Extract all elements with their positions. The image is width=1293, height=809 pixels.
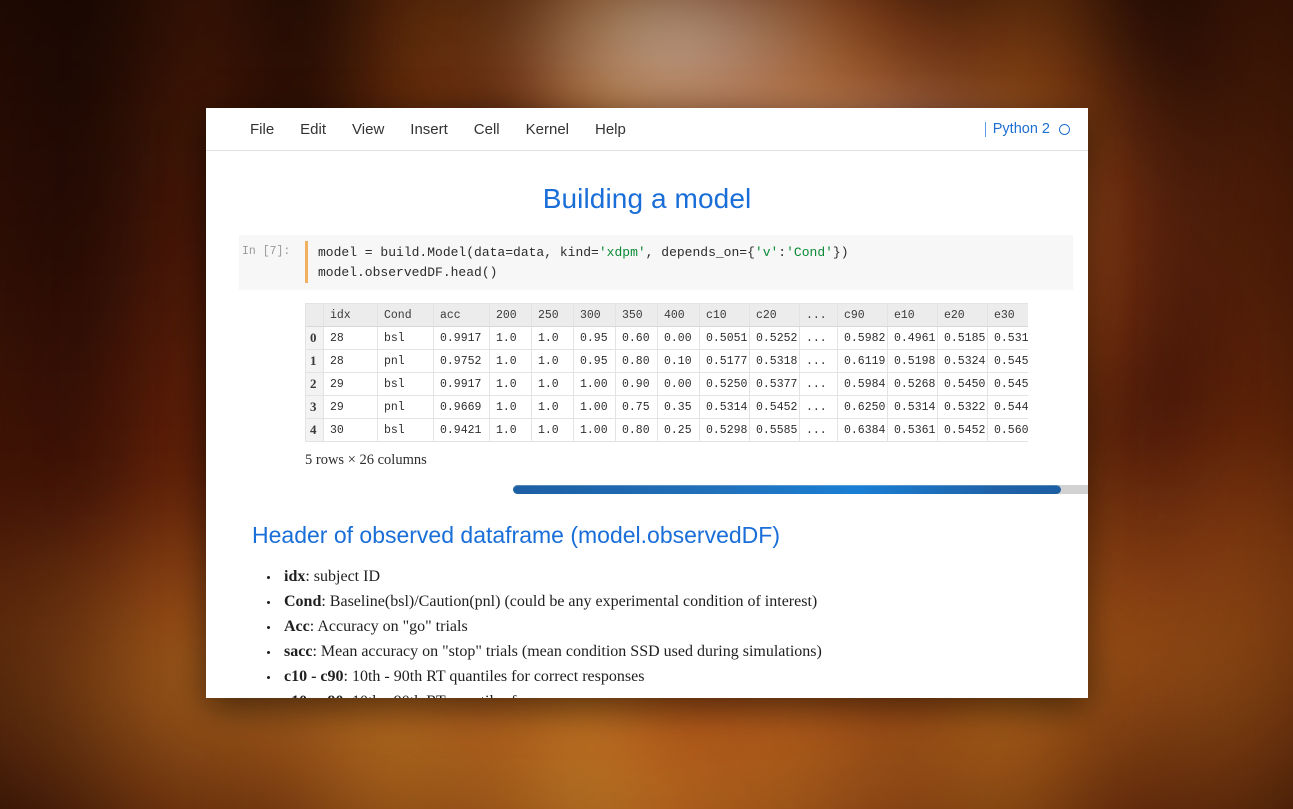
table-cell: 0.9917: [434, 327, 490, 350]
table-cell: 1.00: [574, 373, 616, 396]
list-item-term: sacc: [284, 643, 312, 660]
list-item-term: Acc: [284, 618, 310, 635]
table-column-header-250: 250: [532, 304, 574, 327]
table-row-index: 0: [306, 327, 324, 350]
table-row-index: 4: [306, 419, 324, 442]
list-item-description: : Baseline(bsl)/Caution(pnl) (could be a…: [321, 593, 817, 610]
code-cell[interactable]: In [7]: model = build.Model(data=data, k…: [239, 235, 1073, 290]
code-editor[interactable]: model = build.Model(data=data, kind='xdp…: [305, 241, 1073, 283]
table-column-header-idx: idx: [324, 304, 378, 327]
kernel-idle-circle-icon: [1059, 124, 1070, 135]
code-token-text: }): [833, 245, 849, 260]
table-cell: 0.00: [658, 373, 700, 396]
list-item-description: : Mean accuracy on "stop" trials (mean c…: [312, 643, 821, 660]
list-item-description: : Accuracy on "go" trials: [310, 618, 468, 635]
list-item-term: idx: [284, 568, 305, 585]
table-column-header-400: 400: [658, 304, 700, 327]
table-row: 028bsl0.99171.01.00.950.600.000.50510.52…: [306, 327, 1029, 350]
table-cell: 1.0: [532, 350, 574, 373]
table-cell: 0.5268: [888, 373, 938, 396]
code-token-string: 'xdpm': [599, 245, 646, 260]
table-cell: 29: [324, 373, 378, 396]
menu-bar: FileEditViewInsertCellKernelHelp Python …: [206, 108, 1088, 151]
menu-item-insert[interactable]: Insert: [397, 118, 461, 141]
table-cell: 1.0: [490, 419, 532, 442]
table-column-header-200: 200: [490, 304, 532, 327]
list-item-term: c10 - c90: [284, 668, 344, 685]
list-item: e10 - e90: 10th - 90th RT quantiles for …: [280, 690, 1088, 698]
table-cell: ...: [800, 396, 838, 419]
menu-item-kernel[interactable]: Kernel: [513, 118, 582, 141]
table-column-header-e30: e30: [988, 304, 1029, 327]
table-cell: 1.0: [532, 373, 574, 396]
table-cell: 0.5322: [938, 396, 988, 419]
kernel-name-label: Python 2: [993, 121, 1050, 137]
markdown-heading: Header of observed dataframe (model.obse…: [252, 522, 1088, 549]
table-column-header-e10: e10: [888, 304, 938, 327]
table-cell: 0.95: [574, 327, 616, 350]
table-column-header-dotdotdot: ...: [800, 304, 838, 327]
code-token-text: , depends_on={: [646, 245, 755, 260]
dataframe-table: idxCondacc200250300350400c10c20...c90e10…: [305, 303, 1028, 442]
dataframe-head: idxCondacc200250300350400c10c20...c90e10…: [306, 304, 1029, 327]
table-cell: 0.5982: [838, 327, 888, 350]
table-cell: 0.5452: [938, 419, 988, 442]
table-column-header-c10: c10: [700, 304, 750, 327]
table-cell: 0.60: [616, 327, 658, 350]
table-cell: bsl: [378, 373, 434, 396]
table-cell: 0.5324: [938, 350, 988, 373]
table-cell: 0.5606: [988, 419, 1029, 442]
table-cell: 0.5984: [838, 373, 888, 396]
table-cell: 0.6384: [838, 419, 888, 442]
table-column-header-350: 350: [616, 304, 658, 327]
table-cell: 0.9421: [434, 419, 490, 442]
table-cell: 28: [324, 350, 378, 373]
table-cell: ...: [800, 350, 838, 373]
menu-item-help[interactable]: Help: [582, 118, 639, 141]
code-token-text: model = build.Model(data=data, kind=: [318, 245, 599, 260]
list-item: idx: subject ID: [280, 565, 1088, 589]
table-cell: 29: [324, 396, 378, 419]
table-column-header-300: 300: [574, 304, 616, 327]
table-cell: 0.5452: [988, 350, 1029, 373]
table-cell: 1.0: [532, 327, 574, 350]
code-token-string: 'Cond': [786, 245, 833, 260]
kernel-divider-icon: [985, 122, 986, 137]
menu-item-edit[interactable]: Edit: [287, 118, 339, 141]
table-cell: bsl: [378, 327, 434, 350]
markdown-cell[interactable]: Header of observed dataframe (model.obse…: [252, 522, 1088, 698]
table-column-header-c90: c90: [838, 304, 888, 327]
scrollbar-thumb[interactable]: [513, 485, 1061, 494]
table-row: 329pnl0.96691.01.01.000.750.350.53140.54…: [306, 396, 1029, 419]
table-row: 430bsl0.94211.01.01.000.800.250.52980.55…: [306, 419, 1029, 442]
code-line-1: model = build.Model(data=data, kind='xdp…: [318, 245, 849, 260]
menu-item-view[interactable]: View: [339, 118, 397, 141]
table-cell: 0.5250: [700, 373, 750, 396]
kernel-indicator[interactable]: Python 2: [985, 121, 1070, 137]
table-cell: 0.9917: [434, 373, 490, 396]
table-cell: 0.6119: [838, 350, 888, 373]
notebook-body: Building a model In [7]: model = build.M…: [206, 151, 1088, 698]
table-row: 128pnl0.97521.01.00.950.800.100.51770.53…: [306, 350, 1029, 373]
table-cell: 0.5448: [988, 396, 1029, 419]
table-cell: 0.90: [616, 373, 658, 396]
table-cell: pnl: [378, 350, 434, 373]
list-item-description: : subject ID: [305, 568, 380, 585]
table-cell: 1.00: [574, 419, 616, 442]
table-cell: 30: [324, 419, 378, 442]
horizontal-scrollbar[interactable]: [513, 485, 1088, 494]
table-cell: 0.10: [658, 350, 700, 373]
table-cell: pnl: [378, 396, 434, 419]
table-cell: 0.9752: [434, 350, 490, 373]
table-cell: 0.5452: [750, 396, 800, 419]
table-cell: 1.0: [532, 419, 574, 442]
menu-item-cell[interactable]: Cell: [461, 118, 513, 141]
table-cell: 0.5198: [888, 350, 938, 373]
dataframe-shape-label: 5 rows × 26 columns: [305, 452, 1073, 469]
table-column-header-e20: e20: [938, 304, 988, 327]
table-header-row: idxCondacc200250300350400c10c20...c90e10…: [306, 304, 1029, 327]
table-cell: 0.5585: [750, 419, 800, 442]
menu-item-file[interactable]: File: [237, 118, 287, 141]
jupyter-notebook-window: FileEditViewInsertCellKernelHelp Python …: [206, 108, 1088, 698]
table-cell: 0.80: [616, 350, 658, 373]
table-cell: 0.35: [658, 396, 700, 419]
code-token-string: 'v': [755, 245, 778, 260]
table-row-index: 2: [306, 373, 324, 396]
table-cell: 0.9669: [434, 396, 490, 419]
markdown-bullet-list: idx: subject IDCond: Baseline(bsl)/Cauti…: [252, 565, 1088, 698]
list-item-term: e10 - e90: [284, 693, 344, 698]
table-row: 229bsl0.99171.01.01.000.900.000.52500.53…: [306, 373, 1029, 396]
table-cell: 0.75: [616, 396, 658, 419]
table-index-corner: [306, 304, 324, 327]
table-cell: 0.4961: [888, 327, 938, 350]
table-cell: 0.95: [574, 350, 616, 373]
table-cell: 0.5318: [750, 350, 800, 373]
table-cell: 0.80: [616, 419, 658, 442]
code-line-2: model.observedDF.head(): [318, 265, 497, 280]
table-row-index: 1: [306, 350, 324, 373]
table-cell: 0.5252: [750, 327, 800, 350]
table-cell: 0.5361: [888, 419, 938, 442]
table-cell: bsl: [378, 419, 434, 442]
table-column-header-Cond: Cond: [378, 304, 434, 327]
dataframe-scroll-viewport[interactable]: idxCondacc200250300350400c10c20...c90e10…: [305, 303, 1028, 442]
dataframe-body: 028bsl0.99171.01.00.950.600.000.50510.52…: [306, 327, 1029, 442]
list-item: Cond: Baseline(bsl)/Caution(pnl) (could …: [280, 590, 1088, 614]
cell-prompt-label: In [7]:: [239, 241, 305, 283]
code-token-text: :: [778, 245, 786, 260]
list-item-term: Cond: [284, 593, 321, 610]
table-cell: 1.0: [532, 396, 574, 419]
table-column-header-c20: c20: [750, 304, 800, 327]
table-cell: 1.0: [490, 350, 532, 373]
list-item-description: : 10th - 90th RT quantiles for error res…: [344, 693, 632, 698]
table-cell: 0.5298: [700, 419, 750, 442]
table-column-header-acc: acc: [434, 304, 490, 327]
list-item-description: : 10th - 90th RT quantiles for correct r…: [344, 668, 645, 685]
table-cell: 0.5317: [988, 327, 1029, 350]
table-cell: 0.5314: [888, 396, 938, 419]
table-cell: 28: [324, 327, 378, 350]
table-cell: 0.5051: [700, 327, 750, 350]
table-cell: ...: [800, 419, 838, 442]
table-cell: 1.0: [490, 327, 532, 350]
table-cell: 0.5185: [938, 327, 988, 350]
list-item: sacc: Mean accuracy on "stop" trials (me…: [280, 640, 1088, 664]
cell-output-area: idxCondacc200250300350400c10c20...c90e10…: [239, 303, 1073, 469]
table-cell: 0.5451: [988, 373, 1029, 396]
table-cell: 0.5377: [750, 373, 800, 396]
list-item: Acc: Accuracy on "go" trials: [280, 615, 1088, 639]
table-cell: 0.5177: [700, 350, 750, 373]
table-cell: 0.5450: [938, 373, 988, 396]
table-cell: 1.0: [490, 396, 532, 419]
table-cell: 1.0: [490, 373, 532, 396]
menu-items: FileEditViewInsertCellKernelHelp: [237, 118, 639, 141]
table-cell: ...: [800, 373, 838, 396]
table-cell: 0.5314: [700, 396, 750, 419]
table-cell: 0.6250: [838, 396, 888, 419]
table-cell: 1.00: [574, 396, 616, 419]
table-row-index: 3: [306, 396, 324, 419]
table-cell: 0.25: [658, 419, 700, 442]
table-cell: 0.00: [658, 327, 700, 350]
page-title: Building a model: [206, 151, 1088, 235]
list-item: c10 - c90: 10th - 90th RT quantiles for …: [280, 665, 1088, 689]
table-cell: ...: [800, 327, 838, 350]
